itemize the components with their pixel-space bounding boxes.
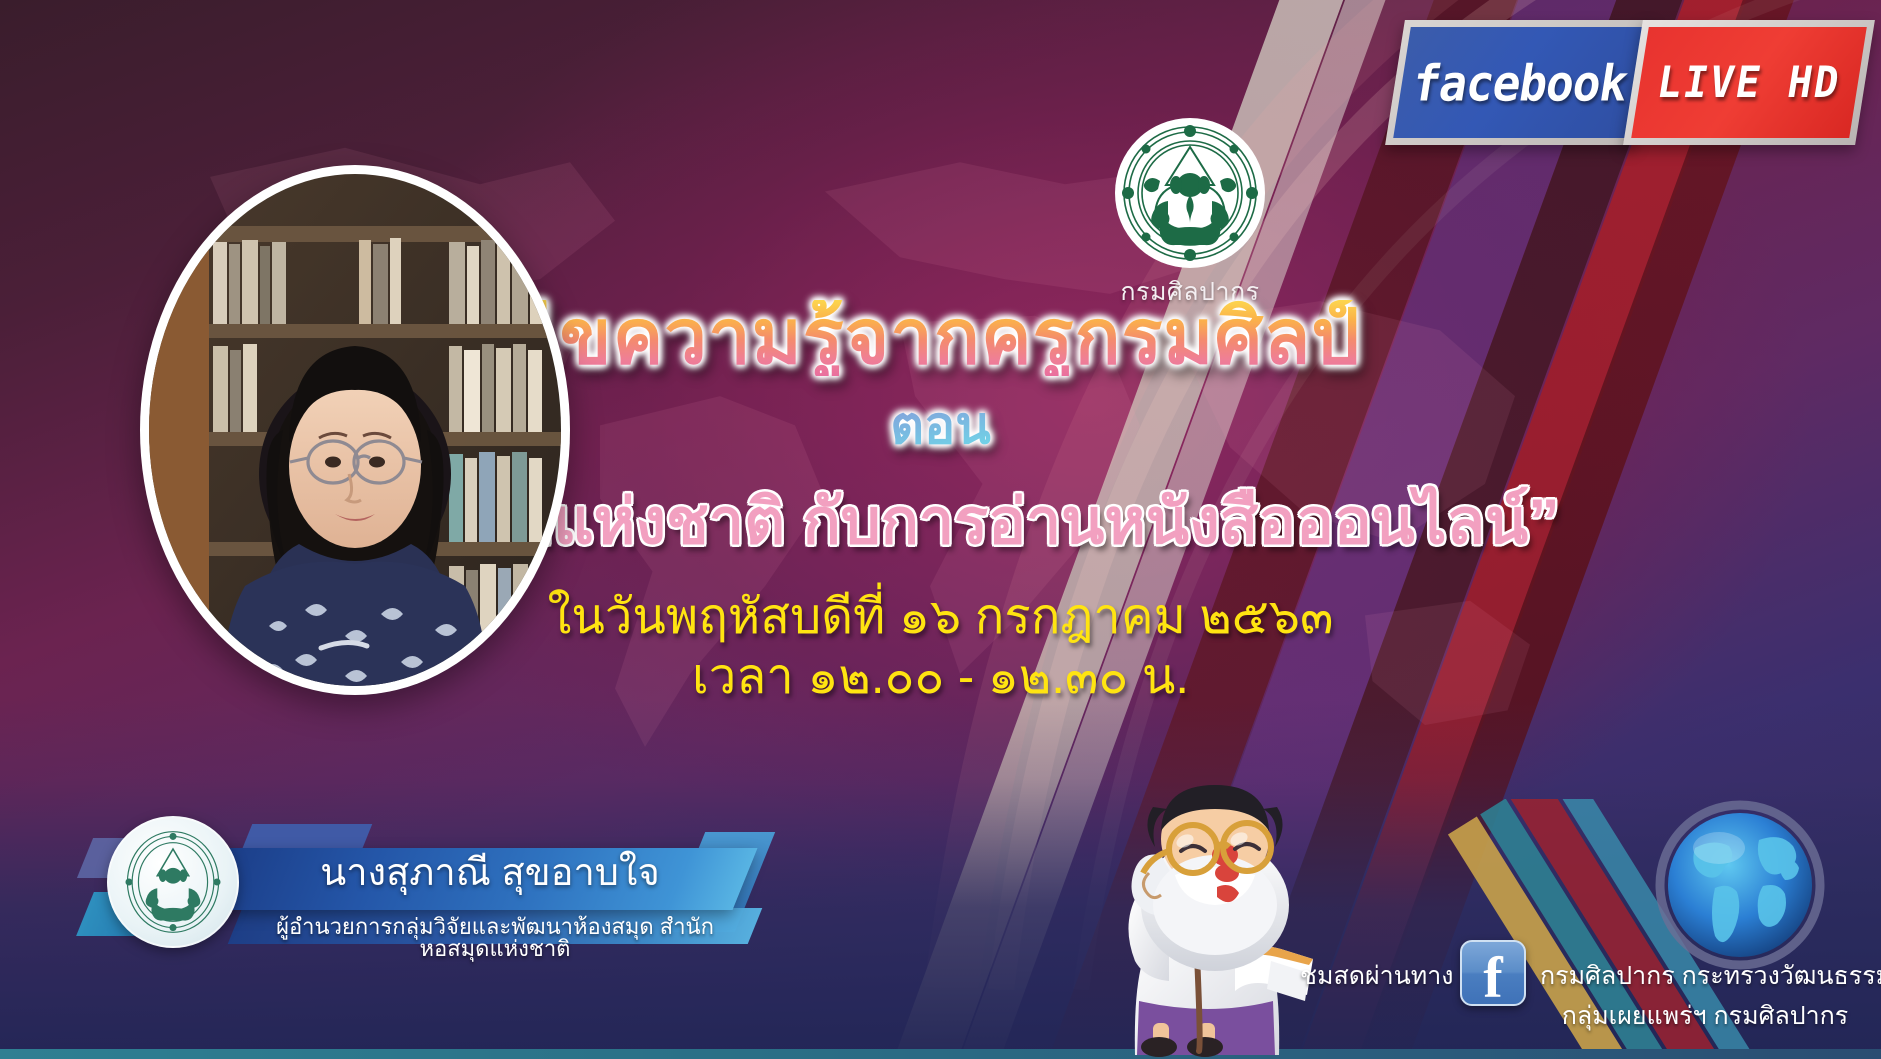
watch-label: ชมสดผ่านทาง xyxy=(1300,956,1453,996)
facebook-plate[interactable]: facebook xyxy=(1385,20,1655,145)
broadcast-poster: facebook LIVE HD xyxy=(0,0,1881,1059)
speaker-portrait-photo xyxy=(149,174,561,686)
facebook-f-icon[interactable]: f xyxy=(1460,940,1526,1006)
live-hd-plate[interactable]: LIVE HD xyxy=(1623,20,1875,145)
facebook-label: facebook xyxy=(1409,53,1632,111)
facebook-page-line-2: กลุ่มเผยแพร่ฯ กรมศิลปากร xyxy=(1540,996,1870,1036)
speaker-portrait-frame xyxy=(140,165,570,695)
facebook-page-line-1: กรมศิลปากร กระทรวงวัฒนธรรม xyxy=(1540,956,1881,996)
facebook-live-hd-badge[interactable]: facebook LIVE HD xyxy=(1395,20,1865,145)
watch-footer: ชมสดผ่านทาง f กรมศิลปากร กระทรวงวัฒนธรรม… xyxy=(1300,940,1860,1050)
fine-arts-department-ganesha-emblem xyxy=(1115,118,1265,268)
speaker-name-banner: นางสุภาณี สุขอาบใจ ผู้อำนวยการกลุ่มวิจัย… xyxy=(85,818,785,948)
live-hd-label: LIVE HD xyxy=(1654,58,1844,108)
speaker-role: ผู้อำนวยการกลุ่มวิจัยและพัฒนาห้องสมุด สำ… xyxy=(215,916,775,960)
speaker-name: นางสุภาณี สุขอาบใจ xyxy=(255,854,725,892)
bottom-teal-line xyxy=(0,1049,1881,1059)
department-header: กรมศิลปากร xyxy=(1090,118,1290,312)
